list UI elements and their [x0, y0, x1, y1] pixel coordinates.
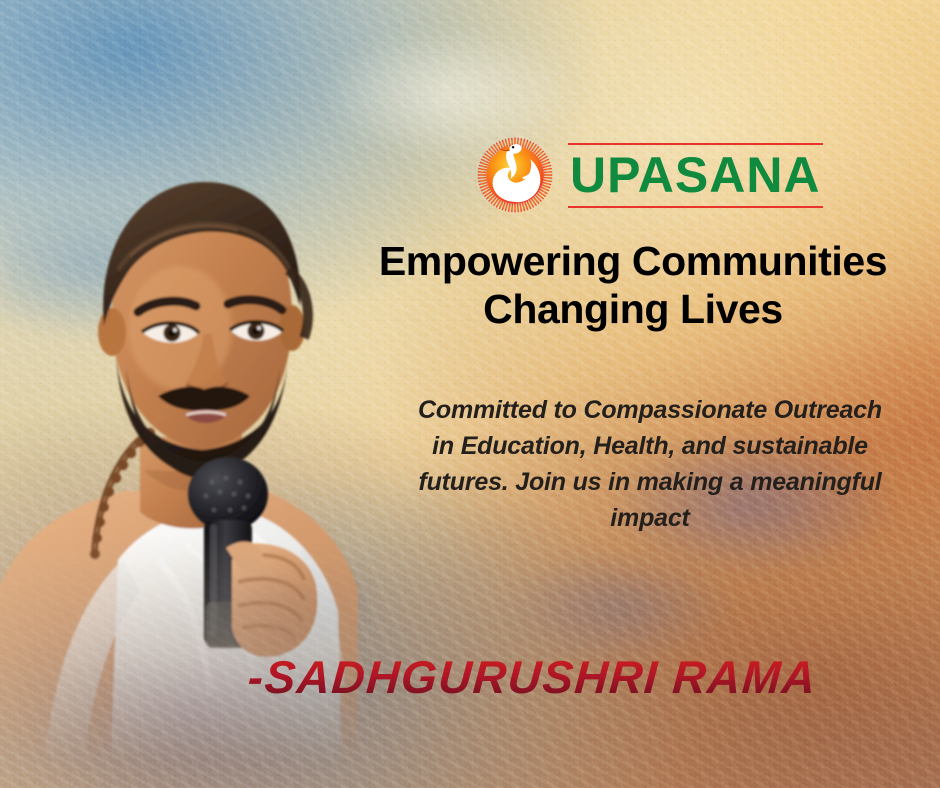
- brand-name-block: UPASANA: [568, 143, 823, 208]
- brand-name: UPASANA: [570, 150, 821, 200]
- brand-rule-top: [568, 143, 823, 145]
- headline-line-2: Changing Lives: [355, 286, 911, 334]
- subheadline: Committed to Compassionate Outreach in E…: [410, 392, 890, 536]
- swan-sun-emblem-icon: [476, 136, 554, 214]
- brand-rule-bottom: [568, 206, 823, 208]
- author-signature: -SADHGURUSHRI RAMA: [246, 654, 818, 700]
- poster-canvas: UPASANA Empowering Communities Changing …: [0, 0, 940, 788]
- brand-lockup: UPASANA: [476, 136, 823, 214]
- headline-line-1: Empowering Communities: [355, 238, 911, 286]
- headline: Empowering Communities Changing Lives: [355, 238, 911, 334]
